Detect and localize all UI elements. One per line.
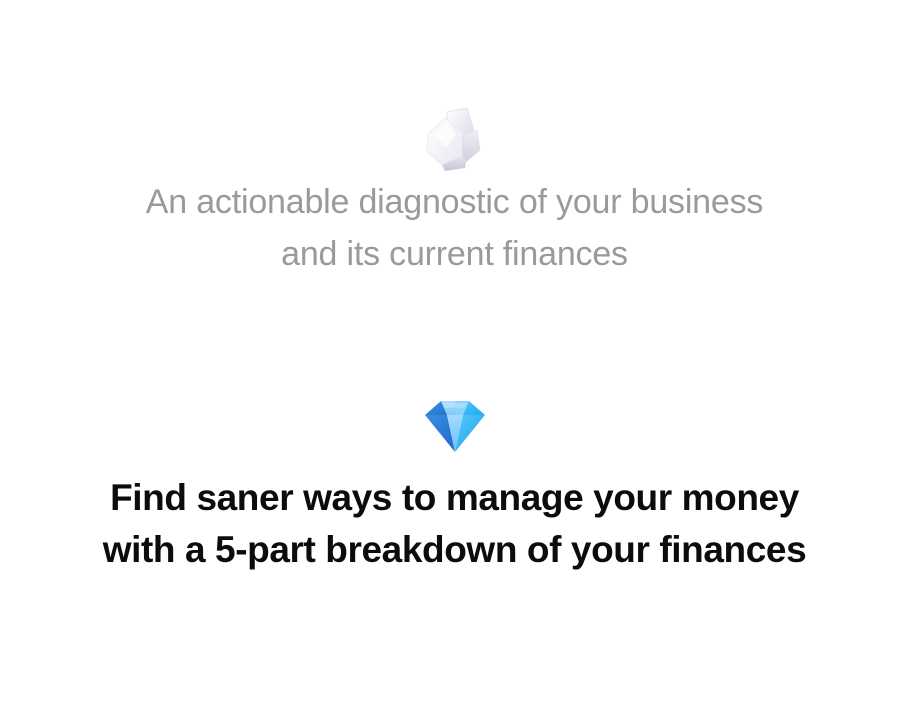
diagnostic-subtitle-line-2: and its current finances bbox=[40, 228, 869, 280]
diagnostic-subtitle: An actionable diagnostic of your busines… bbox=[0, 176, 909, 280]
breakdown-headline-line-2: with a 5-part breakdown of your finances bbox=[40, 524, 869, 576]
pale-gem-icon bbox=[422, 104, 488, 176]
pale-gem-icon-wrap bbox=[0, 104, 909, 176]
diagnostic-subtitle-line-1: An actionable diagnostic of your busines… bbox=[40, 176, 869, 228]
diagnostic-section: An actionable diagnostic of your busines… bbox=[0, 104, 909, 280]
blue-gem-icon bbox=[422, 394, 488, 458]
breakdown-section: Find saner ways to manage your money wit… bbox=[0, 394, 909, 576]
breakdown-headline: Find saner ways to manage your money wit… bbox=[0, 472, 909, 576]
slide-canvas: An actionable diagnostic of your busines… bbox=[0, 0, 909, 702]
breakdown-headline-line-1: Find saner ways to manage your money bbox=[40, 472, 869, 524]
blue-gem-icon-wrap bbox=[0, 394, 909, 458]
